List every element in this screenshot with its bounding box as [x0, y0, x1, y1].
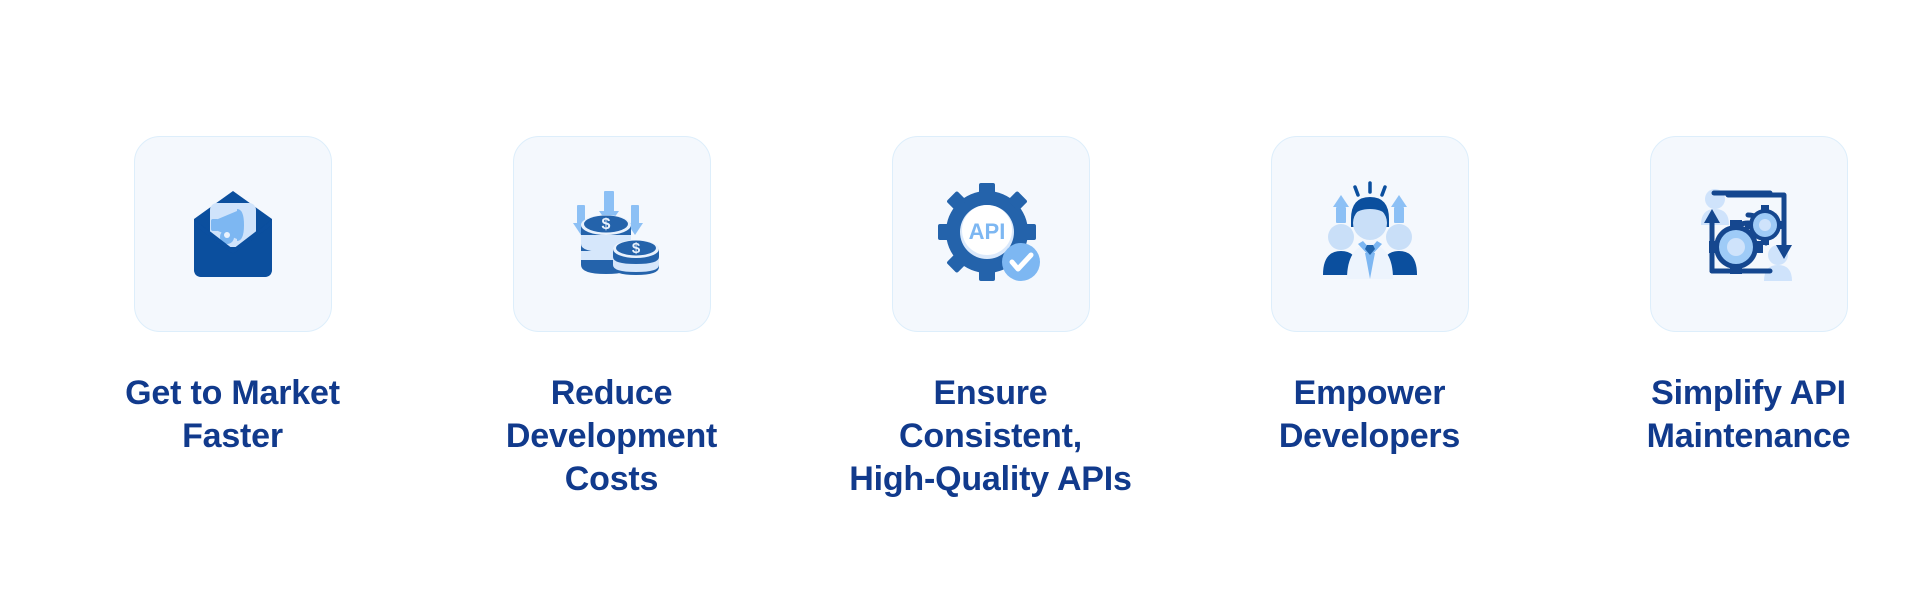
envelope-megaphone-icon: [174, 175, 292, 293]
api-gear-label: API: [968, 219, 1005, 244]
benefit-item-ensure-consistent-high-quality-apis: API Ensure Consistent, High-Quality APIs: [801, 136, 1180, 501]
benefit-label: Get to Market Faster: [68, 372, 398, 458]
benefit-label: Empower Developers: [1205, 372, 1535, 458]
benefits-row: Get to Market Faster: [0, 0, 1920, 600]
svg-text:$: $: [601, 216, 610, 233]
benefit-item-get-to-market-faster: Get to Market Faster: [43, 136, 422, 458]
benefit-item-reduce-development-costs: $ $ Reduce Development Costs: [422, 136, 801, 501]
gears-cycle-users-icon: [1690, 175, 1808, 293]
svg-text:$: $: [631, 240, 640, 257]
icon-card-ensure-consistent-high-quality-apis: API: [892, 136, 1090, 332]
benefit-label: Ensure Consistent, High-Quality APIs: [826, 372, 1156, 501]
coin-stack-down-arrows-icon: $ $: [553, 175, 671, 293]
icon-card-reduce-development-costs: $ $: [513, 136, 711, 332]
benefit-item-empower-developers: Empower Developers: [1180, 136, 1559, 458]
benefit-label: Simplify API Maintenance: [1584, 372, 1914, 458]
benefit-label: Reduce Development Costs: [447, 372, 777, 501]
icon-card-empower-developers: [1271, 136, 1469, 332]
api-gear-check-icon: API: [932, 175, 1050, 293]
benefit-item-simplify-api-maintenance: Simplify API Maintenance: [1559, 136, 1920, 458]
icon-card-simplify-api-maintenance: [1650, 136, 1848, 332]
team-up-arrows-icon: [1311, 175, 1429, 293]
icon-card-get-to-market-faster: [134, 136, 332, 332]
